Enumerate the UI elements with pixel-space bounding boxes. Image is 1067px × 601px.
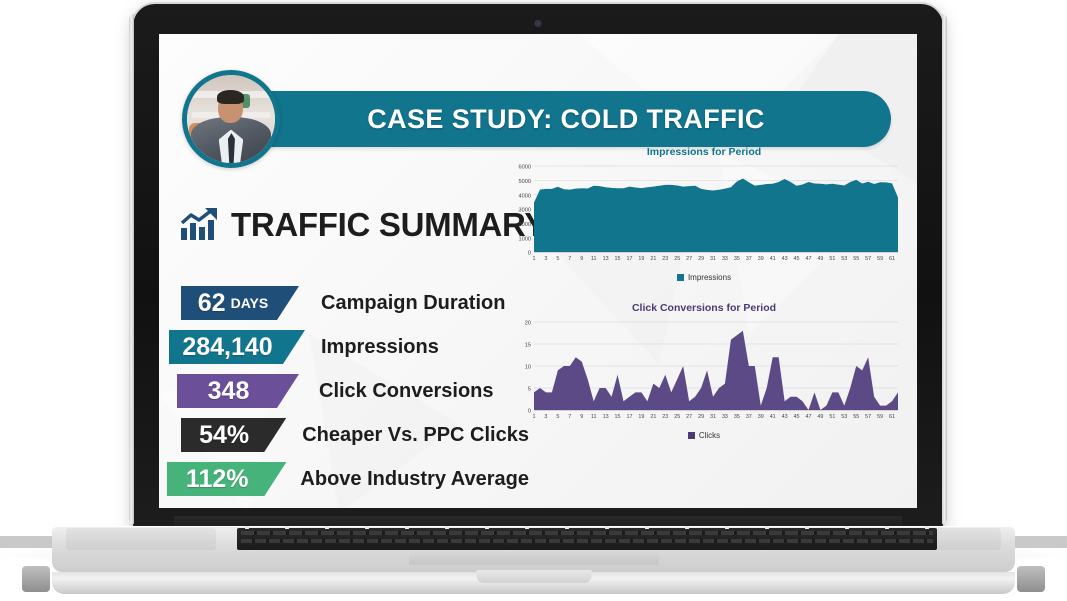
svg-text:11: 11 — [591, 414, 597, 420]
legend-label: Impressions — [688, 273, 731, 282]
stat-label: Impressions — [321, 336, 439, 359]
bar-chart-growth-icon — [179, 208, 221, 242]
svg-text:45: 45 — [794, 256, 800, 262]
svg-text:3: 3 — [544, 256, 547, 262]
svg-text:43: 43 — [782, 414, 788, 420]
svg-text:49: 49 — [817, 256, 823, 262]
stat-label: Click Conversions — [319, 380, 494, 403]
chart-legend: Impressions — [504, 273, 904, 282]
svg-text:45: 45 — [794, 414, 800, 420]
svg-text:17: 17 — [626, 414, 632, 420]
stat-value: 62 — [198, 291, 226, 316]
avatar — [182, 70, 280, 168]
svg-text:5: 5 — [556, 414, 559, 420]
stat-row: 284,140 Impressions — [159, 326, 529, 368]
svg-text:17: 17 — [626, 256, 632, 262]
svg-text:27: 27 — [686, 256, 692, 262]
stat-value: 54% — [199, 423, 249, 448]
laptop-base — [0, 516, 1067, 601]
stats-list: 62 DAYS Campaign Duration 284,140 Impres… — [159, 282, 529, 502]
svg-text:20: 20 — [525, 321, 531, 327]
stat-row: 348 Click Conversions — [159, 370, 529, 412]
svg-text:23: 23 — [662, 256, 668, 262]
svg-text:19: 19 — [638, 256, 644, 262]
svg-text:3: 3 — [544, 414, 547, 420]
svg-text:47: 47 — [805, 256, 811, 262]
chart-legend: Clicks — [504, 431, 904, 440]
legend-swatch — [688, 432, 695, 439]
svg-text:29: 29 — [698, 256, 704, 262]
svg-text:1: 1 — [533, 414, 536, 420]
svg-text:33: 33 — [722, 256, 728, 262]
svg-text:61: 61 — [889, 256, 895, 262]
svg-text:33: 33 — [722, 414, 728, 420]
trackpad[interactable] — [409, 552, 659, 565]
svg-text:35: 35 — [734, 256, 740, 262]
stat-row: 112% Above Industry Average — [159, 458, 529, 500]
laptop-front-lip — [52, 572, 1015, 594]
svg-text:25: 25 — [674, 414, 680, 420]
svg-text:51: 51 — [829, 256, 835, 262]
svg-text:53: 53 — [841, 414, 847, 420]
stat-value: 348 — [208, 379, 250, 404]
latch-notch — [476, 570, 591, 583]
stat-label: Above Industry Average — [300, 468, 529, 491]
keyboard[interactable] — [237, 528, 937, 550]
lid-edge-left — [129, 14, 134, 524]
svg-text:29: 29 — [698, 414, 704, 420]
svg-text:55: 55 — [853, 256, 859, 262]
svg-text:57: 57 — [865, 256, 871, 262]
chart-plot: 0510152013579111315171921232527293133353… — [504, 316, 904, 428]
svg-text:59: 59 — [877, 256, 883, 262]
laptop-deck — [52, 526, 1015, 572]
svg-text:13: 13 — [603, 414, 609, 420]
svg-text:19: 19 — [638, 414, 644, 420]
svg-text:5000: 5000 — [519, 179, 531, 185]
svg-text:6000: 6000 — [519, 165, 531, 171]
stat-label: Cheaper Vs. PPC Clicks — [302, 424, 529, 447]
svg-text:39: 39 — [758, 256, 764, 262]
stat-badge: 54% — [181, 418, 286, 452]
svg-text:9: 9 — [580, 256, 583, 262]
svg-text:49: 49 — [817, 414, 823, 420]
palm-rest-left — [66, 528, 216, 550]
svg-text:25: 25 — [674, 256, 680, 262]
svg-text:47: 47 — [805, 414, 811, 420]
svg-text:37: 37 — [746, 414, 752, 420]
stat-badge: 348 — [177, 374, 299, 408]
svg-text:57: 57 — [865, 414, 871, 420]
svg-text:21: 21 — [650, 414, 656, 420]
impressions-chart: Impressions for Period 01000200030004000… — [504, 146, 904, 291]
stat-unit: DAYS — [231, 295, 269, 311]
slide-title-banner: CASE STUDY: COLD TRAFFIC — [241, 91, 891, 147]
laptop-foot-left — [22, 566, 50, 592]
screenshot-stage: CASE STUDY: COLD TRAFFIC — [0, 0, 1067, 601]
svg-text:5: 5 — [556, 256, 559, 262]
svg-text:3000: 3000 — [519, 208, 531, 214]
svg-text:21: 21 — [650, 256, 656, 262]
svg-text:15: 15 — [615, 414, 621, 420]
stat-value: 112% — [186, 467, 249, 492]
section-heading: TRAFFIC SUMMARY — [179, 206, 546, 244]
svg-text:1: 1 — [533, 256, 536, 262]
svg-text:53: 53 — [841, 256, 847, 262]
webcam-icon — [535, 20, 542, 27]
stat-value: 284,140 — [182, 335, 272, 360]
svg-text:37: 37 — [746, 256, 752, 262]
svg-text:5: 5 — [528, 387, 531, 393]
svg-text:0: 0 — [528, 409, 531, 415]
svg-text:9: 9 — [580, 414, 583, 420]
svg-text:1000: 1000 — [519, 236, 531, 242]
svg-text:55: 55 — [853, 414, 859, 420]
svg-text:41: 41 — [770, 414, 776, 420]
stat-row: 62 DAYS Campaign Duration — [159, 282, 529, 324]
stat-badge: 284,140 — [169, 330, 305, 364]
stat-label: Campaign Duration — [321, 292, 505, 315]
avatar-photo — [187, 75, 275, 163]
laptop-foot-right — [1017, 566, 1045, 592]
laptop-screen: CASE STUDY: COLD TRAFFIC — [159, 34, 917, 508]
chart-title: Click Conversions for Period — [504, 302, 904, 314]
laptop-lid: CASE STUDY: COLD TRAFFIC — [133, 4, 943, 534]
legend-swatch — [677, 274, 684, 281]
svg-text:41: 41 — [770, 256, 776, 262]
stat-badge: 112% — [167, 462, 286, 496]
svg-text:4000: 4000 — [519, 193, 531, 199]
svg-text:7: 7 — [568, 414, 571, 420]
svg-text:31: 31 — [710, 414, 716, 420]
svg-text:0: 0 — [528, 251, 531, 257]
svg-text:13: 13 — [603, 256, 609, 262]
stat-row: 54% Cheaper Vs. PPC Clicks — [159, 414, 529, 456]
svg-text:31: 31 — [710, 256, 716, 262]
svg-text:11: 11 — [591, 256, 597, 262]
svg-text:39: 39 — [758, 414, 764, 420]
svg-text:2000: 2000 — [519, 222, 531, 228]
svg-text:27: 27 — [686, 414, 692, 420]
stat-badge: 62 DAYS — [181, 286, 299, 320]
clicks-chart: Click Conversions for Period 05101520135… — [504, 302, 904, 452]
section-heading-label: TRAFFIC SUMMARY — [231, 206, 546, 244]
svg-text:10: 10 — [525, 365, 531, 371]
svg-text:43: 43 — [782, 256, 788, 262]
page-title: CASE STUDY: COLD TRAFFIC — [367, 104, 765, 135]
lid-edge-right — [942, 14, 947, 524]
svg-text:59: 59 — [877, 414, 883, 420]
svg-text:15: 15 — [615, 256, 621, 262]
chart-title: Impressions for Period — [504, 146, 904, 158]
svg-text:7: 7 — [568, 256, 571, 262]
legend-label: Clicks — [699, 431, 720, 440]
svg-text:61: 61 — [889, 414, 895, 420]
svg-text:15: 15 — [525, 343, 531, 349]
svg-text:23: 23 — [662, 414, 668, 420]
chart-plot: 0100020003000400050006000135791113151719… — [504, 160, 904, 270]
svg-text:35: 35 — [734, 414, 740, 420]
svg-text:51: 51 — [829, 414, 835, 420]
